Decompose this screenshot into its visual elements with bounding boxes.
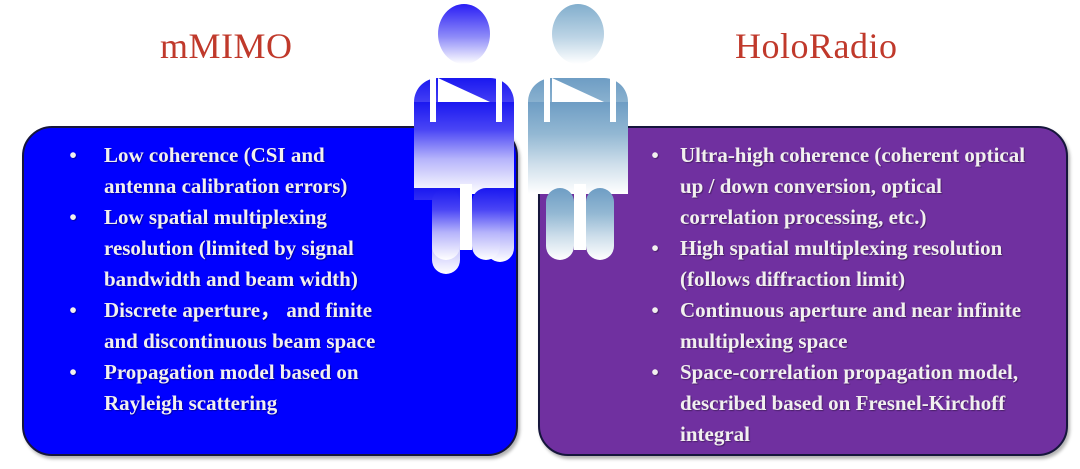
page-title-holoradio: HoloRadio — [735, 28, 898, 64]
list-item: • Propagation model based on Rayleigh sc… — [46, 357, 376, 419]
holoradio-bullet-list: • Ultra-high coherence (coherent optical… — [628, 140, 1028, 450]
list-item-label: Propagation model based on Rayleigh scat… — [104, 360, 359, 415]
bullet-icon: • — [66, 295, 80, 326]
list-item: • Low spatial multiplexing resolution (l… — [46, 202, 376, 295]
list-item-label: High spatial multiplexing resolution (fo… — [680, 236, 1002, 291]
list-item-label: Ultra-high coherence (coherent optical u… — [680, 143, 1025, 229]
bullet-icon: • — [66, 202, 80, 233]
list-item-label: Discrete aperture， and finite and discon… — [104, 298, 375, 353]
bullet-icon: • — [648, 140, 662, 171]
list-item-label: Continuous aperture and near infinite mu… — [680, 298, 1021, 353]
person-silhouette-steel-icon — [524, 2, 636, 274]
bullet-icon: • — [66, 140, 80, 171]
list-item: • Space-correlation propagation model, d… — [628, 357, 1028, 450]
slide-canvas: mMIMO HoloRadio • Low coherence (CSI and… — [0, 0, 1080, 469]
list-item-label: Low spatial multiplexing resolution (lim… — [104, 205, 358, 291]
list-item: • High spatial multiplexing resolution (… — [628, 233, 1028, 295]
person-silhouette-blue-icon — [410, 2, 522, 274]
list-item-label: Low coherence (CSI and antenna calibrati… — [104, 143, 347, 198]
bullet-icon: • — [648, 357, 662, 388]
bullet-icon: • — [648, 295, 662, 326]
bullet-icon: • — [648, 233, 662, 264]
list-item: • Continuous aperture and near infinite … — [628, 295, 1028, 357]
list-item: • Ultra-high coherence (coherent optical… — [628, 140, 1028, 233]
bullet-icon: • — [66, 357, 80, 388]
page-title-mmimo: mMIMO — [160, 28, 293, 64]
list-item-label: Space-correlation propagation model, des… — [680, 360, 1018, 446]
mmimo-bullet-list: • Low coherence (CSI and antenna calibra… — [46, 140, 376, 419]
list-item: • Low coherence (CSI and antenna calibra… — [46, 140, 376, 202]
list-item: • Discrete aperture， and finite and disc… — [46, 295, 376, 357]
